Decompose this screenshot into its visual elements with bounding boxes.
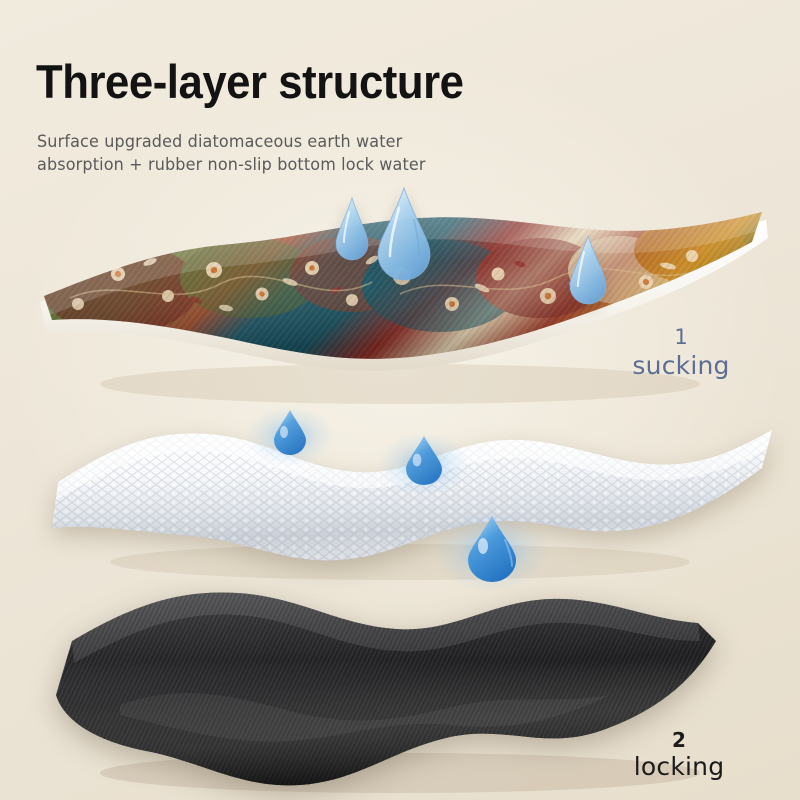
- infographic-canvas: Three-layer structure Surface upgraded d…: [0, 0, 800, 800]
- droplet-small: [336, 198, 368, 260]
- step-label-locking: 2 locking: [616, 728, 742, 783]
- droplet-absorbing-2: [378, 432, 470, 496]
- page-subtitle: Surface upgraded diatomaceous earth wate…: [37, 130, 426, 177]
- subtitle-line-1: Surface upgraded diatomaceous earth wate…: [37, 130, 426, 153]
- step-word-locking: locking: [616, 752, 742, 783]
- step-number-2: 2: [616, 728, 742, 752]
- step-label-sucking: 1 sucking: [618, 325, 744, 381]
- subtitle-line-2: absorption + rubber non-slip bottom lock…: [37, 153, 426, 176]
- droplet-absorbing-1: [246, 406, 334, 466]
- page-title: Three-layer structure: [36, 58, 464, 106]
- step-word-sucking: sucking: [618, 351, 744, 382]
- droplet-large: [378, 188, 430, 280]
- step-number-1: 1: [618, 325, 744, 351]
